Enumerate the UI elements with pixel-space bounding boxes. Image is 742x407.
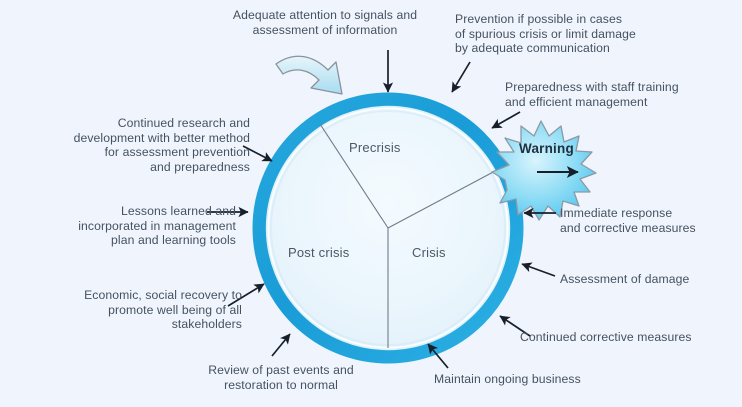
- sector-label-post-crisis: Post crisis: [288, 245, 349, 260]
- arrow-preparedness: [492, 112, 520, 128]
- arrow-assessment-damage: [522, 264, 555, 276]
- arrow-prevention: [452, 62, 470, 92]
- annotation-adequate-attention: Adequate attention to signals and assess…: [213, 8, 437, 37]
- arrow-review-past: [272, 334, 290, 356]
- annotation-economic-recovery: Economic, social recovery to promote wel…: [40, 288, 242, 332]
- sector-label-precrisis: Precrisis: [349, 140, 401, 155]
- warning-label: Warning: [519, 141, 574, 156]
- annotation-continued-corrective: Continued corrective measures: [520, 330, 736, 345]
- diagram-canvas: Precrisis Crisis Post crisis Warning Ade…: [0, 0, 742, 407]
- curved-inflow-arrow: [276, 56, 342, 94]
- annotation-prevention: Prevention if possible in cases of spuri…: [455, 12, 695, 56]
- annotation-maintain-business: Maintain ongoing business: [434, 372, 612, 387]
- annotation-immediate-response: Immediate response and corrective measur…: [560, 206, 736, 235]
- sector-label-crisis: Crisis: [412, 245, 446, 260]
- annotation-preparedness: Preparedness with staff training and eff…: [505, 80, 705, 109]
- annotation-continued-research: Continued research and development with …: [62, 116, 250, 174]
- annotation-assessment-of-damage: Assessment of damage: [560, 272, 736, 287]
- annotation-review-past-events: Review of past events and restoration to…: [186, 363, 376, 392]
- annotation-lessons-learned: Lessons learned and incorporated in mana…: [72, 204, 236, 248]
